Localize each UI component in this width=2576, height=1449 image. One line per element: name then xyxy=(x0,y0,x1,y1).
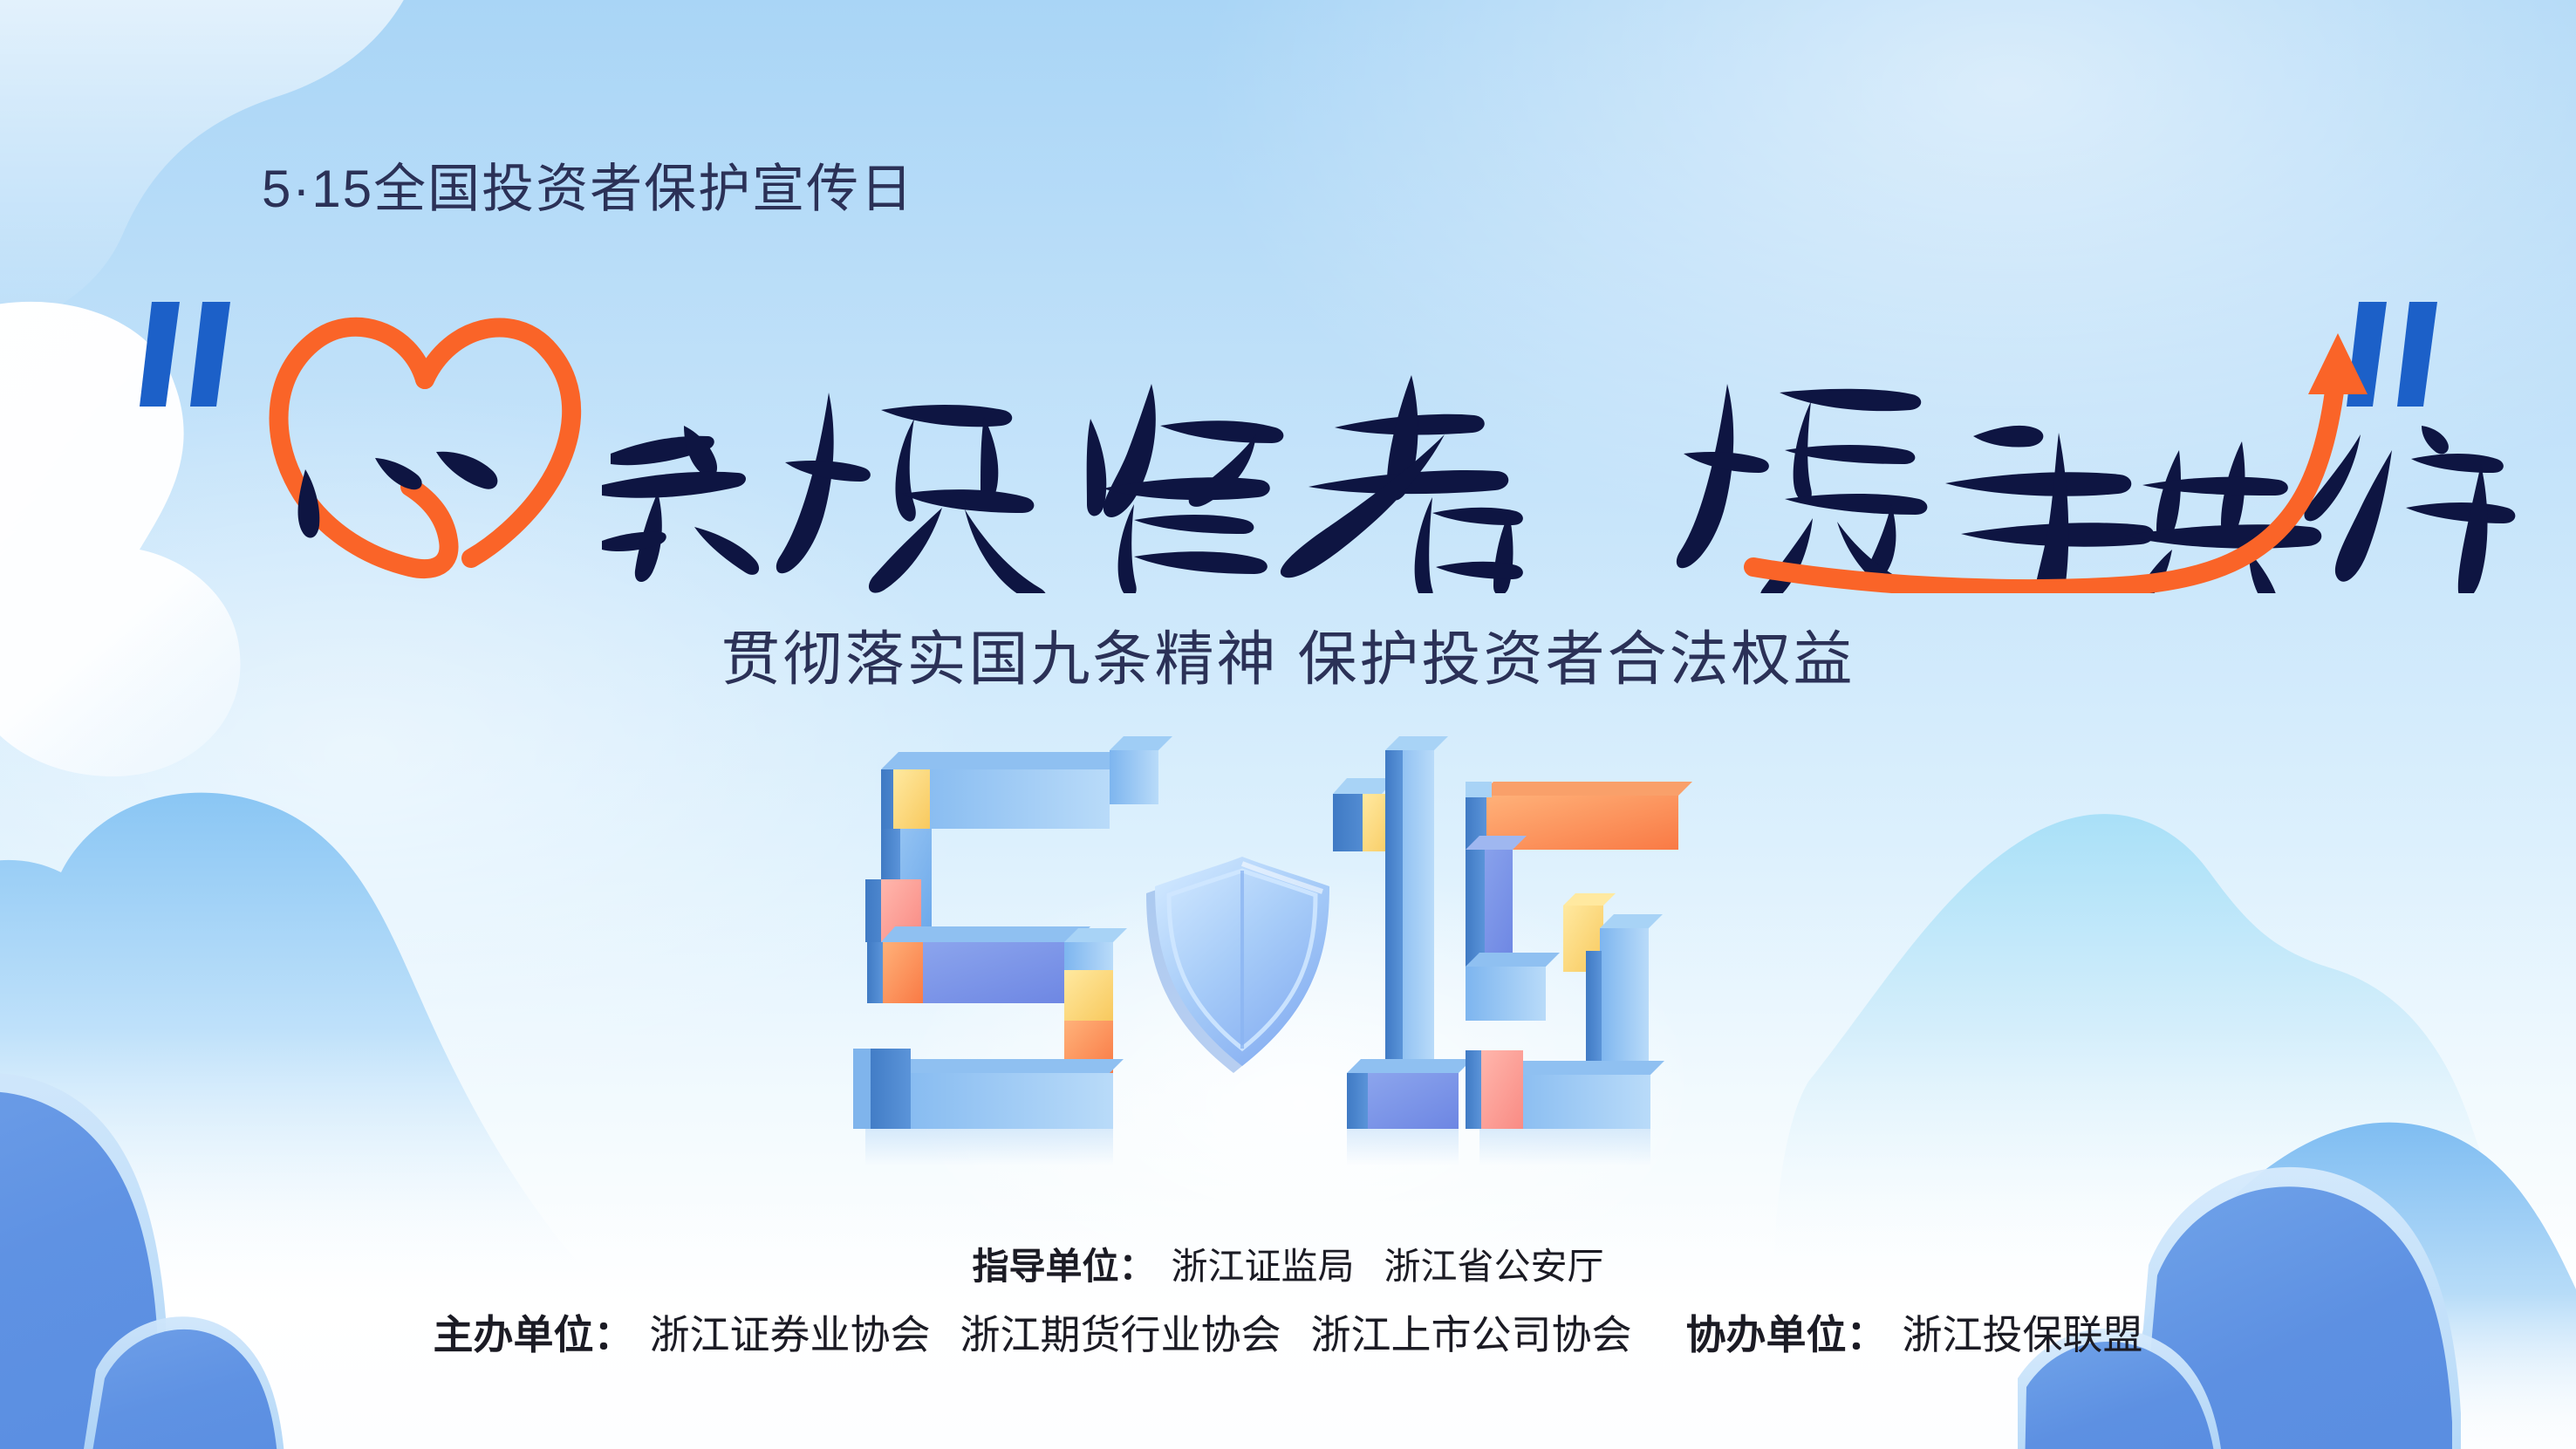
logo-digit-left xyxy=(853,736,1172,1165)
credit-line-guidance: 指导单位：浙江证监局浙江省公安厅 xyxy=(0,1248,2576,1285)
host-org-3: 浙江上市公司协会 xyxy=(1311,1312,1632,1357)
mountain-left-light-icon xyxy=(0,750,698,1291)
credits-block: 指导单位：浙江证监局浙江省公安厅 主办单位：浙江证券业协会浙江期货行业协会浙江上… xyxy=(0,1248,2576,1355)
cohost-org-1: 浙江投保联盟 xyxy=(1903,1312,2143,1357)
host-org-2: 浙江期货行业协会 xyxy=(960,1312,1281,1357)
masthead-title: 5·15全国投资者保护宣传日 xyxy=(262,147,914,222)
shield-icon xyxy=(1146,857,1329,1073)
mountain-right-mid-icon xyxy=(2070,977,2576,1449)
cohost-label: 协办单位： xyxy=(1686,1312,1887,1357)
guidance-label: 指导单位： xyxy=(972,1246,1155,1287)
logo-digit-right xyxy=(1466,782,1692,1165)
slogan-text-value: 心系投资者 携手共行动 xyxy=(262,331,2355,541)
poster-canvas: 5·15全国投资者保护宣传日 xyxy=(0,0,2576,1449)
host-org-1: 浙江证券业协会 xyxy=(650,1312,931,1357)
mountain-left-deep-icon xyxy=(0,1029,506,1449)
mountain-right-light-icon xyxy=(1773,733,2576,1291)
sub-slogan: 贯彻落实国九条精神 保护投资者合法权益 xyxy=(0,611,2576,697)
main-slogan: 心系投资者 携手共行动 xyxy=(0,279,2576,593)
credit-line-hosts: 主办单位：浙江证券业协会浙江期货行业协会浙江上市公司协会协办单位：浙江投保联盟 xyxy=(0,1315,2576,1355)
guidance-org-2: 浙江省公安厅 xyxy=(1384,1246,1604,1287)
guidance-org-1: 浙江证监局 xyxy=(1171,1246,1354,1287)
logo-515-3d xyxy=(848,733,1729,1169)
host-label: 主办单位： xyxy=(434,1312,634,1357)
logo-digit-one xyxy=(1333,736,1472,1165)
